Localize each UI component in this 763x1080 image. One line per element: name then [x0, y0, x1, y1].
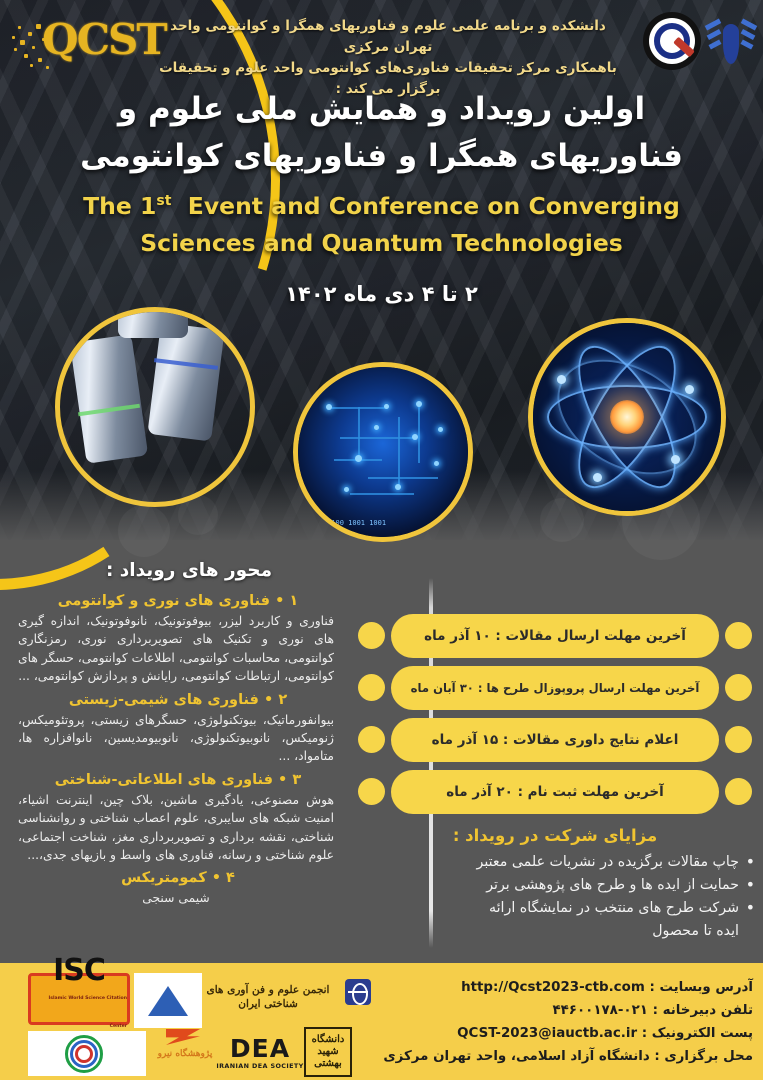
poster-title-farsi: اولین رویداد و همایش ملی علوم و فناوریها… [0, 86, 763, 180]
digital-brain-image: 0110 0100 1001 1001 [293, 362, 473, 542]
organizer-line-1: دانشکده و برنامه علمی علوم و فناوریهای ه… [153, 16, 623, 58]
venue-value: دانشگاه آزاد اسلامی، واحد تهران مرکزی [383, 1049, 649, 1064]
website-line: آدرس وبسایت : http://Qcst2023-ctb.com [373, 976, 753, 999]
qcst-wordmark: QCST [42, 18, 166, 62]
microscope-image [55, 307, 255, 507]
poster-footer: آدرس وبسایت : http://Qcst2023-ctb.com تل… [0, 963, 763, 1080]
lightning-bolt-icon [166, 1029, 200, 1045]
topic-label: فناوری های اطلاعاتی-شناختی [55, 772, 273, 788]
deadline-dot-left [358, 674, 385, 701]
phone-line: تلفن دبیرخانه : ۰۲۱-۴۴۶۰۰۱۷۸ [373, 999, 753, 1022]
topic-number: ۲ [278, 692, 287, 708]
deadline-row: آخرین مهلت ثبت نام : ۲۰ آذر ماه [355, 768, 755, 816]
topic-item: ۴ • کمومتریکس شیمی سنجی [8, 870, 348, 907]
topic-title: ۱ • فناوری های نوری و کوانتومی [8, 593, 348, 609]
poster-title-english: The 1st Event and Conference on Convergi… [0, 183, 763, 262]
rainbow-rings-icon [65, 1035, 109, 1073]
deadline-pill: اعلام نتایج داوری مقالات : ۱۵ آذر ماه [391, 718, 719, 762]
email-value[interactable]: QCST-2023@iauctb.ac.ir [457, 1026, 637, 1041]
benefit-item: حمایت از ایده ها و طرح های پژوهشی برتر [355, 874, 755, 897]
beheshti-university-logo: دانشگاه شهید بهشتی [304, 1027, 352, 1077]
deadline-dot-left [358, 622, 385, 649]
cognitive-society-logo [134, 973, 202, 1028]
niroo-research-logo: پژوهشگاه نیرو [152, 1029, 218, 1077]
email-line: پست الکترونیک : QCST-2023@iauctb.ac.ir [373, 1022, 753, 1045]
isc-mark: ISC [53, 957, 105, 985]
topics-section: محور های رویداد : ۱ • فناوری های نوری و … [8, 560, 348, 914]
quantum-research-center-logo [643, 12, 701, 70]
globe-icon [345, 979, 371, 1005]
deadline-pill: آخرین مهلت ارسال پروپوزال طرح ها : ۳۰ آب… [391, 666, 719, 710]
topic-label: فناوری های نوری و کوانتومی [58, 593, 270, 609]
phone-label: تلفن دبیرخانه : [653, 1003, 753, 1018]
topic-title: ۴ • کمومتریکس [8, 870, 348, 886]
website-label: آدرس وبسایت : [649, 980, 753, 995]
topic-label: کمومتریکس [121, 870, 207, 886]
title-english-ordinal: st [156, 193, 171, 209]
deadlines-section: آخرین مهلت ارسال مقالات : ۱۰ آذر ماه آخر… [355, 612, 755, 820]
title-english-line-1: The 1st Event and Conference on Convergi… [0, 183, 763, 225]
benefits-section: مزایای شرکت در رویداد : چاپ مقالات برگزی… [355, 826, 755, 943]
rainbow-institute-logo [28, 1031, 146, 1076]
binary-digits-text: 0110 0100 1001 1001 [306, 519, 386, 527]
dea-mark: DEA [230, 1036, 290, 1062]
contact-info: آدرس وبسایت : http://Qcst2023-ctb.com تل… [373, 976, 753, 1068]
qcst-logo: QCST [10, 8, 136, 74]
topic-label: فناوری های شیمی-زیستی [69, 692, 259, 708]
deadline-dot-right [725, 726, 752, 753]
topic-body: هوش مصنوعی، یادگیری ماشین، بلاک چین، این… [8, 791, 348, 865]
isc-logo: ISC Islamic World Science Citation Cente… [28, 973, 130, 1025]
deadline-row: آخرین مهلت ارسال مقالات : ۱۰ آذر ماه [355, 612, 755, 660]
topic-item: ۱ • فناوری های نوری و کوانتومی فناوری و … [8, 593, 348, 686]
topics-heading: محور های رویداد : [8, 560, 348, 581]
topic-number: ۴ [226, 870, 235, 886]
topic-number: ۳ [292, 772, 301, 788]
title-english-rest: Event and Conference on Converging [188, 192, 680, 220]
phone-value: ۰۲۱-۴۴۶۰۰۱۷۸ [552, 1003, 647, 1018]
azad-university-logo [705, 8, 757, 70]
deadline-dot-left [358, 726, 385, 753]
title-farsi-line-1: اولین رویداد و همایش ملی علوم و [0, 86, 763, 133]
atom-nucleus [610, 400, 644, 434]
topic-body: فناوری و کاربرد لیزر، بیوفوتونیک، نانوفو… [8, 612, 348, 686]
conference-poster: QCST دانشکده و برنامه علمی علوم و فناوری… [0, 0, 763, 1080]
deadline-pill: آخرین مهلت ثبت نام : ۲۰ آذر ماه [391, 770, 719, 814]
benefit-item: چاپ مقالات برگزیده در نشریات علمی معتبر [355, 851, 755, 874]
deadline-pill: آخرین مهلت ارسال مقالات : ۱۰ آذر ماه [391, 614, 719, 658]
benefit-item: شرکت طرح های منتخب در نمایشگاه ارائه [355, 897, 755, 920]
event-date: ۲ تا ۴ دی ماه ۱۴۰۲ [0, 282, 763, 306]
topic-item: ۳ • فناوری های اطلاعاتی-شناختی هوش مصنوع… [8, 772, 348, 865]
deadline-dot-left [358, 778, 385, 805]
benefits-heading: مزایای شرکت در رویداد : [355, 826, 755, 845]
cognitive-triangle-icon [148, 986, 188, 1016]
deadline-dot-right [725, 674, 752, 701]
deadline-dot-right [725, 622, 752, 649]
title-english-prefix: The 1 [83, 192, 156, 220]
cognitive-society-text: انجمن علوم و فن آوری های شناختی ایران [204, 983, 332, 1011]
website-value[interactable]: http://Qcst2023-ctb.com [461, 980, 645, 995]
niroo-caption: پژوهشگاه نیرو [152, 1049, 218, 1059]
venue-line: محل برگزاری : دانشگاه آزاد اسلامی، واحد … [373, 1045, 753, 1068]
topic-item: ۲ • فناوری های شیمی-زیستی بیوانفورماتیک،… [8, 692, 348, 766]
title-farsi-line-2: فناوریهای همگرا و فناوریهای کوانتومی [0, 133, 763, 180]
poster-header: QCST دانشکده و برنامه علمی علوم و فناوری… [0, 0, 763, 86]
sponsor-logos: ISC Islamic World Science Citation Cente… [4, 967, 344, 1077]
topic-body: شیمی سنجی [8, 889, 348, 907]
topic-title: ۳ • فناوری های اطلاعاتی-شناختی [8, 772, 348, 788]
dea-caption: IRANIAN DEA SOCIETY [216, 1062, 303, 1070]
dea-society-logo: DEA IRANIAN DEA SOCIETY [216, 1031, 304, 1075]
topic-number: ۱ [289, 593, 298, 609]
deadline-row: اعلام نتایج داوری مقالات : ۱۵ آذر ماه [355, 716, 755, 764]
benefits-list: چاپ مقالات برگزیده در نشریات علمی معتبر … [355, 851, 755, 920]
deadline-row: آخرین مهلت ارسال پروپوزال طرح ها : ۳۰ آب… [355, 664, 755, 712]
topic-title: ۲ • فناوری های شیمی-زیستی [8, 692, 348, 708]
benefit-continuation: ایده تا محصول [355, 920, 755, 943]
email-label: پست الکترونیک : [642, 1026, 753, 1041]
atom-image [528, 318, 726, 516]
venue-label: محل برگزاری : [654, 1049, 753, 1064]
title-english-line-2: Sciences and Quantum Technologies [0, 225, 763, 262]
deadline-dot-right [725, 778, 752, 805]
topic-body: بیوانفورماتیک، بیوتکنولوژی، حسگرهای زیست… [8, 711, 348, 766]
